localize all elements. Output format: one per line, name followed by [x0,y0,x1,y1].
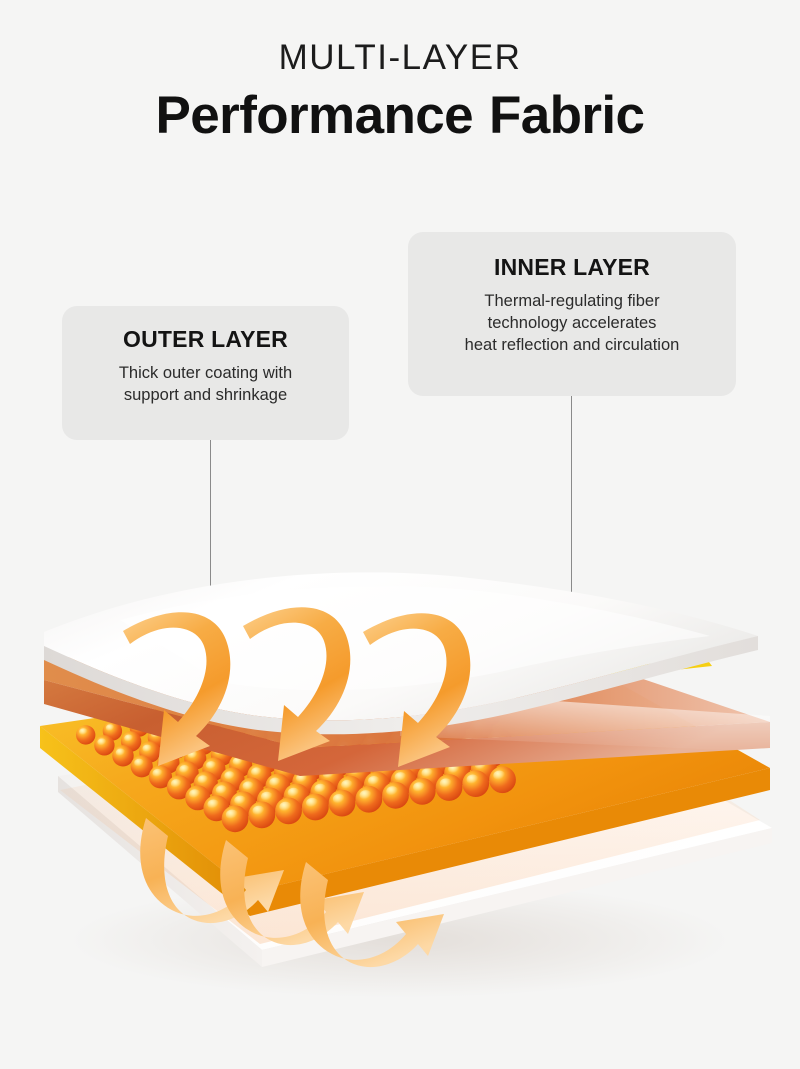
thermal-sphere-highlight [395,772,407,782]
callout-outer-body: Thick outer coating with support and shr… [76,362,335,406]
thermal-sphere-highlight [493,771,505,781]
thermal-sphere-highlight [440,778,452,788]
thermal-sphere-highlight [216,785,228,795]
callout-inner-body-line-1: Thermal-regulating fiber [420,290,724,312]
thermal-sphere-highlight [97,738,106,746]
callout-inner-body-line-2: technology accelerates [420,312,724,334]
thermal-sphere-highlight [234,796,246,806]
thermal-sphere-highlight [422,768,434,778]
thermal-sphere-highlight [279,802,291,812]
callout-outer-body-line-2: support and shrinkage [76,384,335,406]
title-kicker: MULTI-LAYER [0,38,800,78]
thermal-sphere-highlight [179,765,190,774]
thermal-sphere-highlight [253,806,265,816]
thermal-sphere-highlight [315,784,327,794]
thermal-sphere-highlight [208,800,220,810]
page-title: MULTI-LAYER PerformanceFabric [0,38,800,147]
infographic-canvas: MULTI-LAYER PerformanceFabric OUTER LAYE… [0,0,800,1069]
thermal-sphere-highlight [467,775,479,785]
thermal-sphere-highlight [189,789,201,799]
headline-word-2: Fabric [489,86,644,145]
thermal-sphere-highlight [143,745,153,753]
callout-outer-body-line-1: Thick outer coating with [76,362,335,384]
thermal-sphere-highlight [413,782,425,792]
callout-inner-title: INNER LAYER [420,254,724,281]
thermal-sphere-highlight [333,794,345,804]
thermal-sphere-highlight [251,767,262,776]
thermal-sphere-highlight [360,790,372,800]
thermal-sphere-highlight [288,788,300,798]
thermal-sphere-highlight [224,771,235,780]
thermal-sphere-highlight [368,776,380,786]
thermal-sphere-highlight [79,728,88,735]
callout-inner-body: Thermal-regulating fiber technology acce… [420,290,724,356]
title-headline: PerformanceFabric [0,85,800,147]
thermal-sphere-highlight [106,724,115,731]
thermal-sphere-highlight [171,779,182,788]
callout-outer-title: OUTER LAYER [76,326,335,353]
thermal-sphere-highlight [134,759,144,767]
thermal-sphere-highlight [243,781,255,791]
thermal-sphere-highlight [386,786,398,796]
thermal-sphere-highlight [116,749,126,757]
fabric-layers-illustration [0,540,800,1020]
callout-inner-body-line-3: heat reflection and circulation [420,334,724,356]
callout-inner-layer[interactable]: INNER LAYER Thermal-regulating fiber tec… [408,232,736,396]
thermal-sphere-highlight [341,780,353,790]
thermal-sphere-highlight [261,792,273,802]
thermal-sphere-highlight [269,778,281,788]
thermal-sphere-highlight [206,761,217,770]
headline-word-1: Performance [156,86,473,145]
thermal-sphere-highlight [198,775,209,784]
thermal-sphere-highlight [124,735,133,743]
thermal-sphere-highlight [226,810,238,820]
thermal-sphere-highlight [306,798,318,808]
thermal-sphere-highlight [153,769,164,778]
callout-outer-layer[interactable]: OUTER LAYER Thick outer coating with sup… [62,306,349,440]
